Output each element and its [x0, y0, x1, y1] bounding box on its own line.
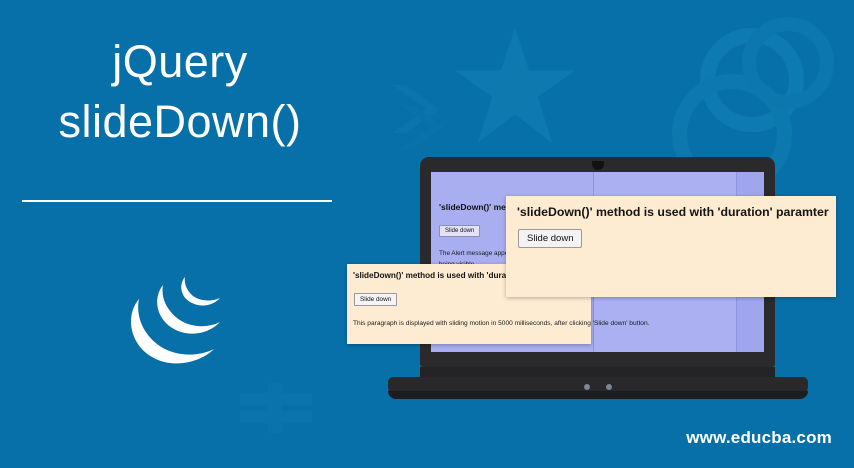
ring-decoration-icon-3: [742, 17, 834, 109]
primary-popup-panel: 'slideDown()' method is used with 'durat…: [506, 196, 836, 297]
slide-canvas: jQuery slideDown() 'slideDown()' method …: [0, 0, 854, 468]
jquery-logo: [122, 265, 234, 377]
webcam-icon: [592, 161, 604, 170]
laptop-base: [388, 377, 808, 399]
primary-popup-slide-down-button[interactable]: Slide down: [518, 229, 582, 248]
secondary-popup-paragraph: This paragraph is displayed with sliding…: [353, 320, 649, 327]
secondary-popup-slide-down-button[interactable]: Slide down: [354, 293, 397, 306]
site-watermark: www.educba.com: [686, 428, 832, 448]
primary-popup-heading: 'slideDown()' method is used with 'durat…: [517, 205, 829, 219]
star-decoration-icon: [455, 28, 575, 148]
title-line-1: jQuery: [0, 32, 360, 92]
page-title: jQuery slideDown(): [0, 32, 360, 152]
title-divider: [22, 200, 332, 202]
plus-decoration-icon: [240, 383, 312, 431]
base-indicator-dot-2: [606, 384, 612, 390]
title-line-2: slideDown(): [0, 92, 360, 152]
base-indicator-dot-1: [584, 384, 590, 390]
screen-slide-down-button[interactable]: Slide down: [439, 225, 480, 237]
